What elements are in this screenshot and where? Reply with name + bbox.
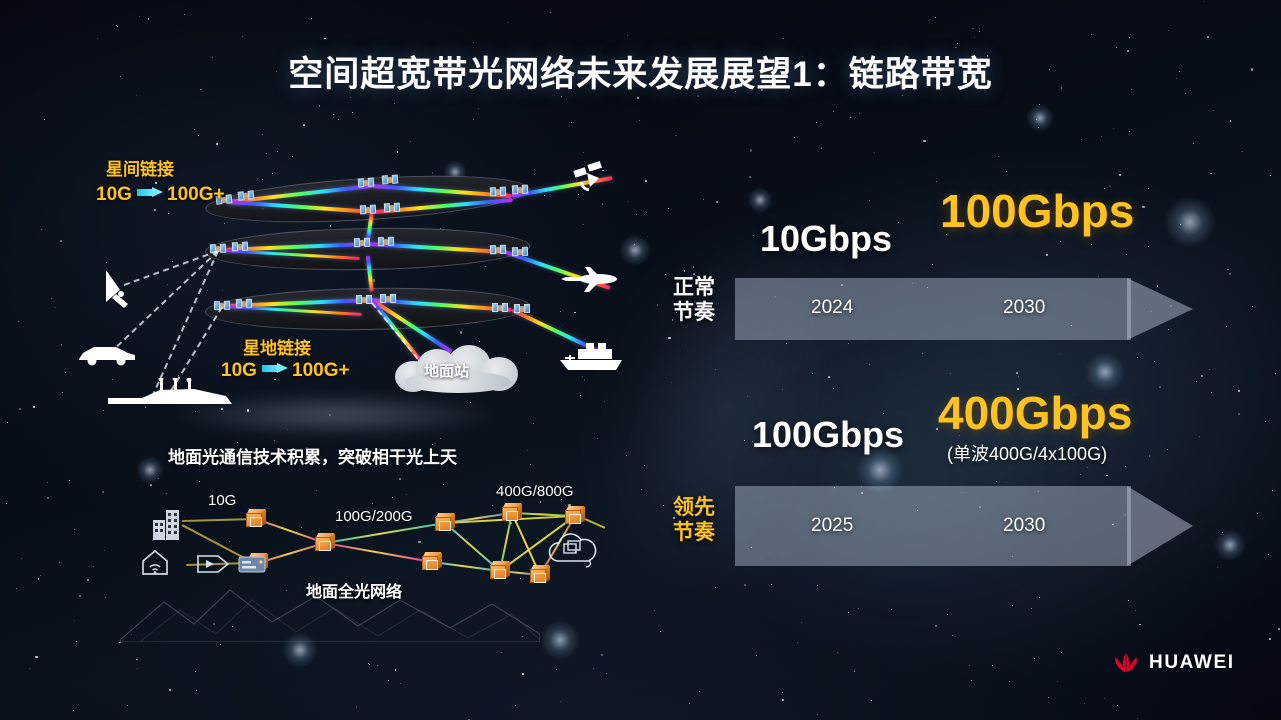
inter-satellite-from: 10G xyxy=(96,184,132,206)
optical-node-icon xyxy=(315,533,335,551)
rate-label-400g-800g: 400G/800G xyxy=(496,483,574,500)
home-icon xyxy=(140,548,170,576)
olt-icon xyxy=(196,553,230,575)
onu-icon xyxy=(238,553,266,575)
huawei-flower-icon xyxy=(1112,651,1140,675)
inter-satellite-title: 星间链接 xyxy=(106,155,174,180)
terrestrial-headline: 地面光通信技术积累，突破相干光上天 xyxy=(168,443,457,468)
huawei-logo: HUAWEI xyxy=(1112,651,1235,675)
row1-end-year: 2030 xyxy=(1003,515,1045,537)
car-icon xyxy=(76,342,138,368)
slide-canvas: 空间超宽带光网络未来发展展望1：链路带宽 xyxy=(0,0,1281,720)
optical-node-icon xyxy=(246,509,266,527)
row1-end-value: 400Gbps xyxy=(938,386,1132,440)
optical-node-icon xyxy=(565,506,585,524)
optical-node-icon xyxy=(490,561,510,579)
timeline-arrow-normal xyxy=(735,278,1195,340)
row-label-leading-line1: 领先节奏 xyxy=(662,495,726,545)
arrow-right-icon xyxy=(137,187,163,198)
satellite-ground-from: 10G xyxy=(221,360,257,382)
huawei-wordmark: HUAWEI xyxy=(1149,652,1235,674)
satellite-ground-title: 星地链接 xyxy=(243,334,311,359)
row1-start-year: 2025 xyxy=(811,515,853,537)
building-icon xyxy=(152,508,184,540)
cloud-icon xyxy=(545,530,601,570)
ground-glow xyxy=(100,385,570,445)
row1-end-note: (单波400G/4x100G) xyxy=(947,440,1107,466)
row0-start-year: 2024 xyxy=(811,297,853,319)
airplane-icon xyxy=(558,266,618,296)
rate-label-10g: 10G xyxy=(208,492,236,509)
optical-node-icon xyxy=(435,513,455,531)
ground-station-label: 地面站 xyxy=(424,360,469,381)
row0-end-year: 2030 xyxy=(1003,297,1045,319)
antenna-icon xyxy=(102,268,136,312)
optical-node-icon xyxy=(422,552,442,570)
satellite-icon xyxy=(572,160,612,196)
row0-end-value: 100Gbps xyxy=(940,184,1134,238)
inter-satellite-to: 100G+ xyxy=(167,184,225,206)
ship-icon xyxy=(556,338,628,374)
row1-start-value: 100Gbps xyxy=(752,414,904,456)
arrow-right-icon-2 xyxy=(262,363,288,374)
row-label-normal-line1: 正常节奏 xyxy=(662,275,726,325)
page-title: 空间超宽带光网络未来发展展望1：链路带宽 xyxy=(0,46,1281,97)
row0-start-value: 10Gbps xyxy=(760,218,892,260)
rate-label-100g-200g: 100G/200G xyxy=(335,508,413,525)
optical-node-icon xyxy=(502,503,522,521)
timeline-arrow-leading xyxy=(735,486,1195,566)
terrestrial-caption: 地面全光网络 xyxy=(306,578,402,602)
satellite-ground-to: 100G+ xyxy=(292,360,350,382)
